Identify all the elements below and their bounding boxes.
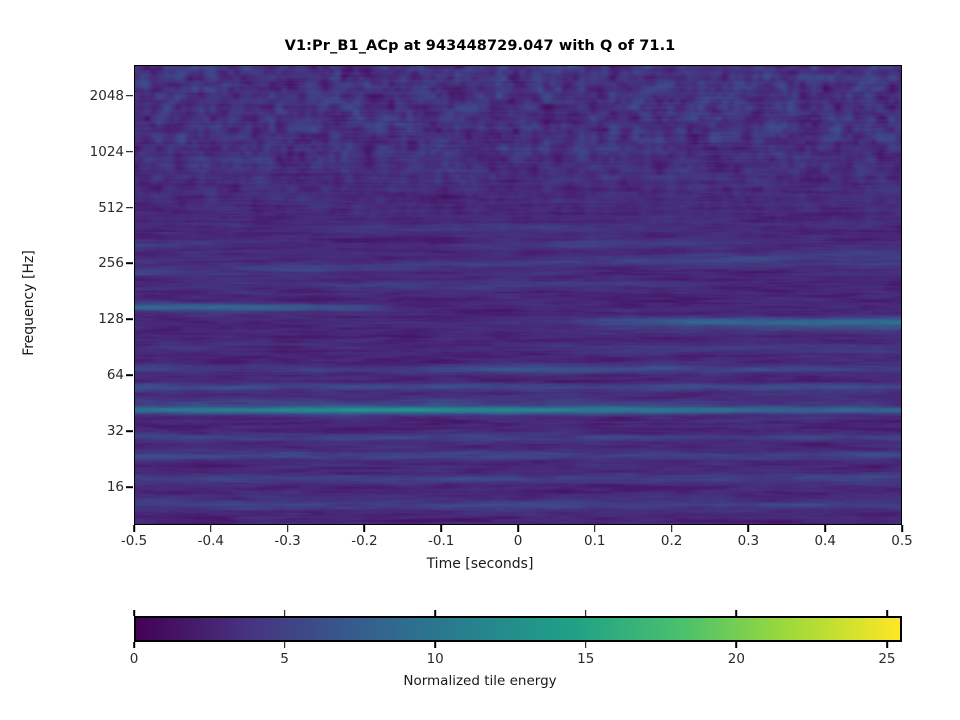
colorbar-tick-label: 5 <box>280 651 289 667</box>
colorbar-tick-label: 10 <box>427 651 444 667</box>
y-tick-label: 2048 <box>90 88 124 104</box>
colorbar-tick-mark <box>133 642 135 648</box>
x-tick-label: 0.4 <box>814 533 835 549</box>
x-tick-mark <box>440 525 442 532</box>
colorbar-tick-mark <box>585 642 587 648</box>
y-tick-label: 512 <box>98 200 124 216</box>
y-tick-mark <box>126 374 133 376</box>
x-tick-mark <box>824 525 826 532</box>
x-tick-mark <box>901 525 903 532</box>
colorbar-tick-mark <box>886 610 888 616</box>
colorbar-tick-label: 15 <box>577 651 594 667</box>
colorbar-tick-label: 20 <box>728 651 745 667</box>
x-tick-mark <box>133 525 135 532</box>
y-tick-label: 128 <box>98 311 124 327</box>
y-tick-mark <box>126 263 133 265</box>
y-tick-mark <box>126 95 133 97</box>
page-title: V1:Pr_B1_ACp at 943448729.047 with Q of … <box>0 38 960 54</box>
x-tick-mark <box>671 525 673 532</box>
x-tick-mark <box>210 525 212 532</box>
figure-canvas: V1:Pr_B1_ACp at 943448729.047 with Q of … <box>0 0 960 720</box>
colorbar-label: Normalized tile energy <box>0 673 960 689</box>
x-tick-mark <box>517 525 519 532</box>
y-tick-mark <box>126 151 133 153</box>
y-tick-mark <box>126 319 133 321</box>
x-tick-mark <box>364 525 366 532</box>
x-tick-label: 0.1 <box>584 533 605 549</box>
colorbar[interactable] <box>134 616 902 642</box>
y-axis-tick-labels: 16326412825651210242048 <box>52 0 124 720</box>
colorbar-tick-mark <box>585 610 587 616</box>
colorbar-tick-label: 25 <box>878 651 895 667</box>
colorbar-tick-mark <box>434 610 436 616</box>
x-axis-label: Time [seconds] <box>0 556 960 572</box>
colorbar-tick-mark <box>284 642 286 648</box>
x-tick-mark <box>594 525 596 532</box>
y-tick-label: 16 <box>107 479 124 495</box>
y-tick-label: 64 <box>107 367 124 383</box>
x-tick-label: -0.5 <box>121 533 147 549</box>
y-axis-label: Frequency [Hz] <box>21 233 37 373</box>
y-tick-mark <box>126 207 133 209</box>
x-tick-mark <box>287 525 289 532</box>
x-tick-label: -0.1 <box>428 533 454 549</box>
x-tick-label: 0.3 <box>738 533 759 549</box>
colorbar-tick-mark <box>736 642 738 648</box>
y-tick-mark <box>126 486 133 488</box>
colorbar-tick-mark <box>886 642 888 648</box>
colorbar-tick-label: 0 <box>130 651 139 667</box>
y-tick-mark <box>126 430 133 432</box>
colorbar-gradient <box>136 618 900 640</box>
spectrogram-image <box>135 66 902 525</box>
x-tick-label: -0.3 <box>274 533 300 549</box>
x-tick-label: -0.2 <box>351 533 377 549</box>
x-tick-label: 0 <box>514 533 523 549</box>
colorbar-tick-mark <box>284 610 286 616</box>
y-tick-label: 1024 <box>90 144 124 160</box>
spectrogram-axes[interactable] <box>134 65 902 525</box>
colorbar-tick-mark <box>736 610 738 616</box>
y-tick-label: 32 <box>107 423 124 439</box>
x-tick-label: 0.5 <box>891 533 912 549</box>
colorbar-tick-mark <box>133 610 135 616</box>
x-tick-mark <box>748 525 750 532</box>
y-tick-label: 256 <box>98 255 124 271</box>
x-tick-label: -0.4 <box>198 533 224 549</box>
x-tick-label: 0.2 <box>661 533 682 549</box>
colorbar-tick-mark <box>434 642 436 648</box>
